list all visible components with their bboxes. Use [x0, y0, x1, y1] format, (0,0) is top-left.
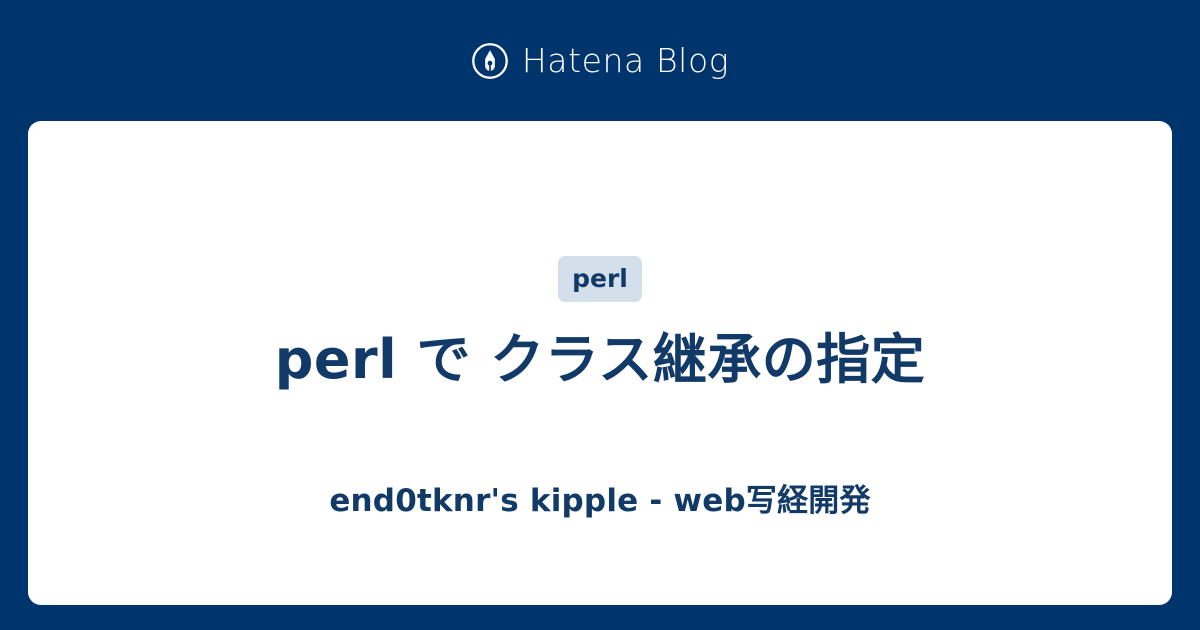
- blog-name[interactable]: end0tknr's kipple - web写経開発: [329, 483, 870, 520]
- entry-title[interactable]: perl で クラス継承の指定: [275, 325, 925, 395]
- brand-name-label: Hatena Blog: [522, 44, 729, 77]
- entry-card: perl perl で クラス継承の指定 end0tknr's kipple -…: [28, 121, 1172, 605]
- entry-card-content: perl perl で クラス継承の指定 end0tknr's kipple -…: [28, 121, 1172, 520]
- category-tag-perl[interactable]: perl: [558, 256, 642, 302]
- hatena-blog-brand[interactable]: Hatena Blog: [0, 0, 1200, 121]
- hatena-blog-logo: [471, 42, 509, 80]
- tag-row: perl: [558, 256, 642, 302]
- fountain-pen-nib-in-circle-icon: [471, 42, 509, 80]
- og-image-root: Hatena Blog perl perl で クラス継承の指定 end0tkn…: [0, 0, 1200, 630]
